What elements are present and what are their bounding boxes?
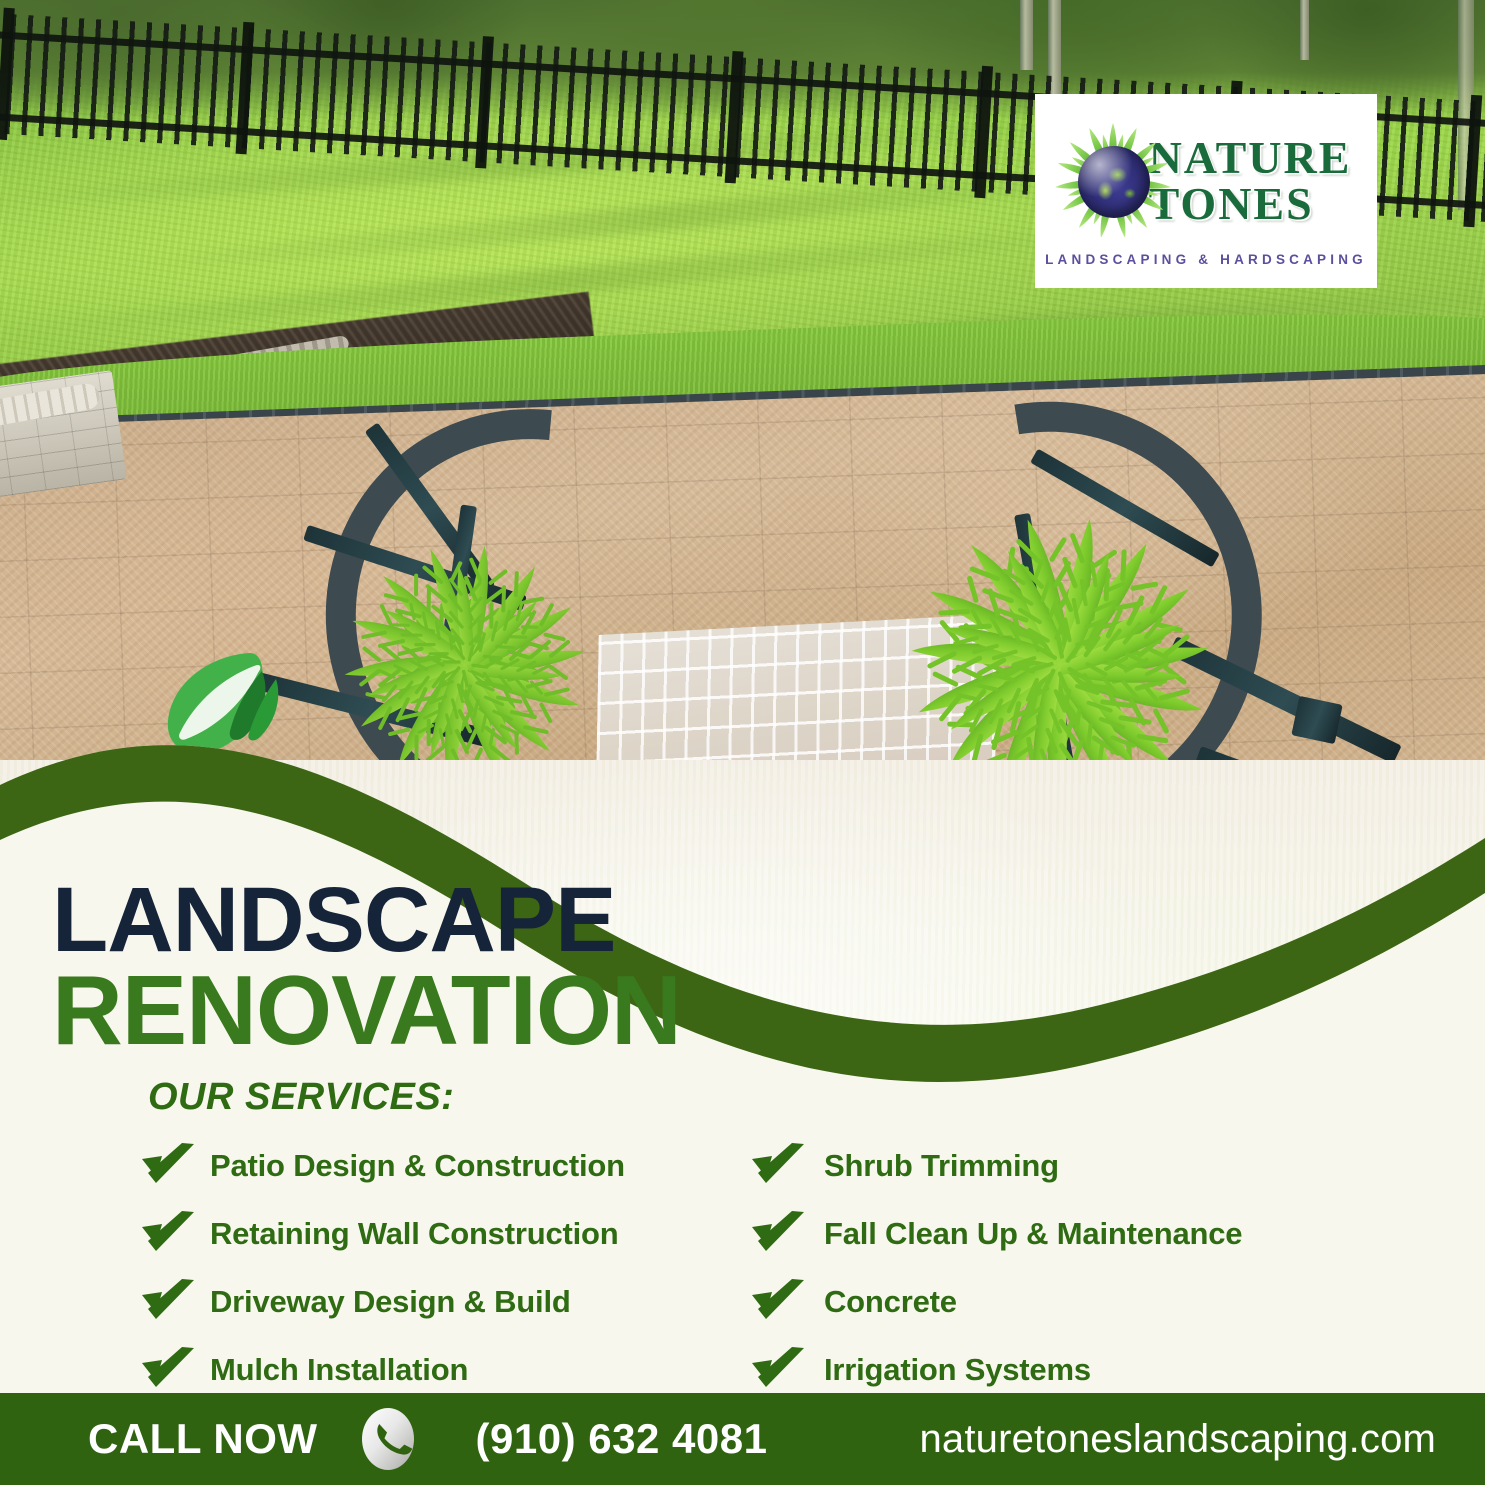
- poster: NATURE TONES LANDSCAPING & HARDSCAPING L…: [0, 0, 1485, 1485]
- contact-footer-bar: CALL NOW (910) 632 4081 naturetoneslands…: [0, 1393, 1485, 1485]
- phone-icon[interactable]: [360, 1406, 416, 1472]
- service-label: Patio Design & Construction: [210, 1148, 625, 1184]
- call-now-label: CALL NOW: [88, 1415, 318, 1463]
- list-item: Shrub Trimming: [750, 1132, 1390, 1200]
- service-label: Mulch Installation: [210, 1352, 468, 1388]
- tree-trunk: [1300, 0, 1309, 60]
- service-label: Irrigation Systems: [824, 1352, 1091, 1388]
- check-icon: [140, 1347, 200, 1393]
- tree-trunk: [1020, 0, 1033, 70]
- service-label: Concrete: [824, 1284, 957, 1320]
- service-label: Retaining Wall Construction: [210, 1216, 619, 1252]
- service-label: Shrub Trimming: [824, 1148, 1059, 1184]
- headline-line-2: RENOVATION: [52, 965, 681, 1056]
- logo-wordmark: NATURE TONES: [1149, 135, 1352, 225]
- services-heading: OUR SERVICES:: [148, 1076, 454, 1119]
- check-icon: [750, 1347, 810, 1393]
- services-list: Patio Design & Construction Retaining Wa…: [140, 1132, 1460, 1404]
- logo-tagline: LANDSCAPING & HARDSCAPING: [1045, 252, 1367, 267]
- list-item: Retaining Wall Construction: [140, 1200, 750, 1268]
- brand-logo-card: NATURE TONES LANDSCAPING & HARDSCAPING: [1035, 94, 1377, 288]
- service-label: Fall Clean Up & Maintenance: [824, 1216, 1242, 1252]
- check-icon: [140, 1211, 200, 1257]
- list-item: Driveway Design & Build: [140, 1268, 750, 1336]
- logo-word-top: NATURE: [1149, 135, 1352, 180]
- headline-line-1: LANDSCAPE: [52, 878, 681, 963]
- check-icon: [750, 1279, 810, 1325]
- services-column-left: Patio Design & Construction Retaining Wa…: [140, 1132, 750, 1404]
- services-column-right: Shrub Trimming Fall Clean Up & Maintenan…: [750, 1132, 1390, 1404]
- check-icon: [750, 1143, 810, 1189]
- list-item: Patio Design & Construction: [140, 1132, 750, 1200]
- logo-word-bottom: TONES: [1149, 181, 1352, 226]
- check-icon: [140, 1279, 200, 1325]
- leaf-mark-icon: [158, 645, 290, 763]
- website-url[interactable]: naturetoneslandscaping.com: [919, 1417, 1436, 1462]
- check-icon: [140, 1143, 200, 1189]
- logo-main: NATURE TONES: [1061, 122, 1352, 240]
- phone-number[interactable]: (910) 632 4081: [476, 1415, 768, 1463]
- globe-icon: [1078, 146, 1150, 218]
- list-item: Fall Clean Up & Maintenance: [750, 1200, 1390, 1268]
- list-item: Concrete: [750, 1268, 1390, 1336]
- globe-leaf-mark: [1061, 129, 1165, 233]
- service-label: Driveway Design & Build: [210, 1284, 571, 1320]
- check-icon: [750, 1211, 810, 1257]
- page-title: LANDSCAPE RENOVATION: [52, 878, 681, 1056]
